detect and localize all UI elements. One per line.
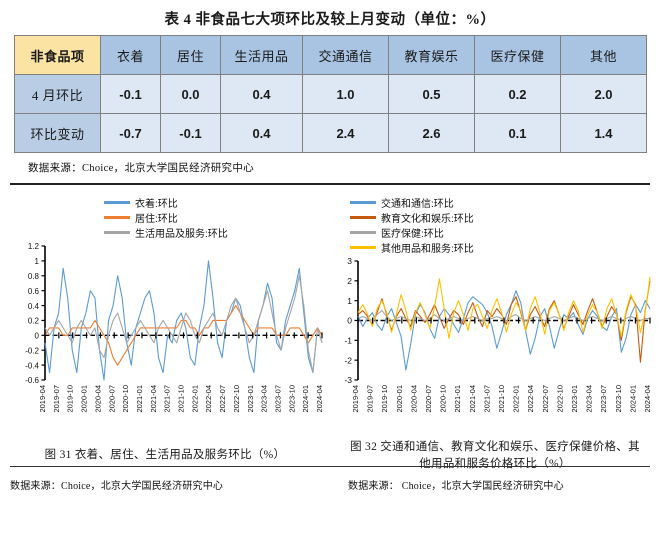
legend-label: 生活用品及服务:环比 — [135, 225, 228, 240]
svg-text:2022-07: 2022-07 — [218, 385, 227, 413]
legend-label: 教育文化和娱乐:环比 — [381, 210, 474, 225]
svg-text:2023-01: 2023-01 — [246, 385, 255, 413]
table-title: 表 4 非食品七大项环比及较上月变动（单位：%） — [0, 0, 660, 29]
svg-text:2023-10: 2023-10 — [614, 385, 623, 413]
col-header-3: 交通通信 — [303, 36, 389, 75]
svg-text:-0.6: -0.6 — [25, 376, 39, 385]
cell-0-3: 1.0 — [303, 75, 389, 114]
svg-text:2019-04: 2019-04 — [351, 385, 360, 413]
legend-item: 教育文化和娱乐:环比 — [350, 210, 660, 225]
legend-swatch-icon — [104, 216, 130, 219]
svg-text:2020-10: 2020-10 — [439, 385, 448, 413]
svg-text:2024-04: 2024-04 — [643, 385, 652, 413]
svg-text:2021-01: 2021-01 — [135, 385, 144, 413]
col-header-0: 衣着 — [101, 36, 161, 75]
table-row: 环比变动 -0.7 -0.1 0.4 2.4 2.6 0.1 1.4 — [15, 114, 647, 153]
table-container: 非食品项 衣着 居住 生活用品 交通通信 教育娱乐 医疗保健 其他 4 月环比 … — [0, 35, 660, 153]
svg-text:0.8: 0.8 — [28, 272, 40, 281]
svg-text:-2: -2 — [344, 355, 352, 365]
svg-text:2023-10: 2023-10 — [287, 385, 296, 413]
legend-item: 衣着:环比 — [104, 195, 330, 210]
cell-0-0: -0.1 — [101, 75, 161, 114]
table-corner-label: 非食品项 — [15, 36, 101, 75]
svg-text:2022-07: 2022-07 — [541, 385, 550, 413]
legend-swatch-icon — [104, 231, 130, 234]
legend-swatch-icon — [350, 231, 376, 234]
svg-text:2020-01: 2020-01 — [80, 385, 89, 413]
svg-text:2022-01: 2022-01 — [190, 385, 199, 413]
legend-swatch-icon — [104, 201, 130, 204]
svg-text:0.6: 0.6 — [28, 287, 40, 296]
chart-31-source: 数据来源：Choice，北京大学国民经济研究中心 — [0, 477, 330, 492]
svg-text:2019-10: 2019-10 — [380, 385, 389, 413]
svg-text:-3: -3 — [344, 375, 352, 385]
svg-text:2024-01: 2024-01 — [301, 385, 310, 413]
svg-text:-0.2: -0.2 — [25, 346, 39, 355]
legend-label: 医疗保健:环比 — [381, 225, 444, 240]
table-header-row: 非食品项 衣着 居住 生活用品 交通通信 教育娱乐 医疗保健 其他 — [15, 36, 647, 75]
chart-32-caption: 图 32 交通和通信、教育文化和娱乐、医疗保健价格、其他用品和服务价格环比（%） — [330, 439, 660, 474]
svg-text:1: 1 — [35, 257, 40, 266]
svg-text:0: 0 — [35, 332, 40, 341]
svg-text:2022-04: 2022-04 — [526, 385, 535, 413]
svg-text:2021-10: 2021-10 — [177, 385, 186, 413]
svg-text:-1: -1 — [344, 336, 352, 346]
svg-text:2023-01: 2023-01 — [570, 385, 579, 413]
cell-0-6: 2.0 — [561, 75, 647, 114]
col-header-6: 其他 — [561, 36, 647, 75]
cell-0-4: 0.5 — [389, 75, 475, 114]
cell-1-6: 1.4 — [561, 114, 647, 153]
svg-text:2019-07: 2019-07 — [52, 385, 61, 413]
chart-31-caption: 图 31 衣着、居住、生活用品及服务环比（%） — [29, 447, 302, 464]
svg-text:-0.4: -0.4 — [25, 361, 39, 370]
cell-0-1: 0.0 — [161, 75, 221, 114]
legend-item: 居住:环比 — [104, 210, 330, 225]
chart-32-source: 数据来源： Choice，北京大学国民经济研究中心 — [330, 477, 660, 492]
svg-text:2019-10: 2019-10 — [66, 385, 75, 413]
svg-text:2020-07: 2020-07 — [424, 385, 433, 413]
svg-text:2023-04: 2023-04 — [585, 385, 594, 413]
cell-1-5: 0.1 — [475, 114, 561, 153]
col-header-4: 教育娱乐 — [389, 36, 475, 75]
svg-text:0.4: 0.4 — [28, 302, 40, 311]
row-label-0: 4 月环比 — [15, 75, 101, 114]
chart-32: 交通和通信:环比 教育文化和娱乐:环比 医疗保健:环比 其他用品和服务:环比 3… — [330, 189, 660, 492]
svg-text:2: 2 — [347, 276, 352, 286]
svg-text:2020-10: 2020-10 — [121, 385, 130, 413]
legend-swatch-icon — [350, 246, 376, 249]
legend-label: 其他用品和服务:环比 — [381, 240, 474, 255]
cell-1-3: 2.4 — [303, 114, 389, 153]
legend-label: 交通和通信:环比 — [381, 195, 454, 210]
table-source: 数据来源：Choice，北京大学国民经济研究中心 — [0, 153, 660, 175]
svg-text:2022-10: 2022-10 — [232, 385, 241, 413]
svg-text:2020-04: 2020-04 — [93, 385, 102, 413]
svg-text:2019-04: 2019-04 — [38, 385, 47, 413]
legend-item: 其他用品和服务:环比 — [350, 240, 660, 255]
table-row: 4 月环比 -0.1 0.0 0.4 1.0 0.5 0.2 2.0 — [15, 75, 647, 114]
svg-text:1: 1 — [347, 296, 352, 306]
svg-text:2021-10: 2021-10 — [497, 385, 506, 413]
svg-text:2024-04: 2024-04 — [315, 385, 324, 413]
legend-label: 衣着:环比 — [135, 195, 178, 210]
divider-bottom — [10, 466, 650, 467]
svg-text:2021-07: 2021-07 — [163, 385, 172, 413]
svg-text:2021-04: 2021-04 — [149, 385, 158, 413]
report-page: 表 4 非食品七大项环比及较上月变动（单位：%） 非食品项 衣着 居住 生活用品… — [0, 0, 660, 547]
legend-item: 医疗保健:环比 — [350, 225, 660, 240]
charts-area: 衣着:环比 居住:环比 生活用品及服务:环比 1.210.80.60.40.20… — [0, 189, 660, 492]
svg-text:2021-04: 2021-04 — [468, 385, 477, 413]
chart-31-plot: 1.210.80.60.40.20-0.2-0.4-0.62019-042019… — [0, 240, 330, 435]
chart-32-legend: 交通和通信:环比 教育文化和娱乐:环比 医疗保健:环比 其他用品和服务:环比 — [330, 189, 660, 255]
svg-text:2019-07: 2019-07 — [366, 385, 375, 413]
cell-0-5: 0.2 — [475, 75, 561, 114]
nonfood-cpi-table: 非食品项 衣着 居住 生活用品 交通通信 教育娱乐 医疗保健 其他 4 月环比 … — [14, 35, 647, 153]
col-header-2: 生活用品 — [221, 36, 303, 75]
svg-text:2021-01: 2021-01 — [453, 385, 462, 413]
svg-text:2020-07: 2020-07 — [107, 385, 116, 413]
svg-text:2022-04: 2022-04 — [204, 385, 213, 413]
svg-text:0: 0 — [347, 316, 352, 326]
legend-swatch-icon — [350, 216, 376, 219]
cell-0-2: 0.4 — [221, 75, 303, 114]
cell-1-1: -0.1 — [161, 114, 221, 153]
cell-1-0: -0.7 — [101, 114, 161, 153]
svg-text:2024-01: 2024-01 — [628, 385, 637, 413]
legend-item: 交通和通信:环比 — [350, 195, 660, 210]
divider-top — [10, 183, 650, 185]
svg-text:0.2: 0.2 — [28, 317, 40, 326]
chart-32-svg: 3210-1-2-32019-042019-072019-102020-0120… — [330, 255, 660, 435]
legend-item: 生活用品及服务:环比 — [104, 225, 330, 240]
svg-text:1.2: 1.2 — [28, 242, 40, 251]
svg-text:2021-07: 2021-07 — [482, 385, 491, 413]
svg-text:2022-01: 2022-01 — [512, 385, 521, 413]
chart-31: 衣着:环比 居住:环比 生活用品及服务:环比 1.210.80.60.40.20… — [0, 189, 330, 492]
col-header-1: 居住 — [161, 36, 221, 75]
chart-31-svg: 1.210.80.60.40.20-0.2-0.4-0.62019-042019… — [0, 240, 330, 435]
legend-label: 居住:环比 — [135, 210, 178, 225]
svg-text:3: 3 — [347, 256, 352, 266]
svg-text:2020-04: 2020-04 — [409, 385, 418, 413]
svg-text:2023-04: 2023-04 — [260, 385, 269, 413]
chart-32-plot: 3210-1-2-32019-042019-072019-102020-0120… — [330, 255, 660, 435]
col-header-5: 医疗保健 — [475, 36, 561, 75]
legend-swatch-icon — [350, 201, 376, 204]
svg-text:2023-07: 2023-07 — [273, 385, 282, 413]
row-label-1: 环比变动 — [15, 114, 101, 153]
chart-31-legend: 衣着:环比 居住:环比 生活用品及服务:环比 — [0, 189, 330, 240]
svg-text:2020-01: 2020-01 — [395, 385, 404, 413]
svg-text:2023-07: 2023-07 — [599, 385, 608, 413]
svg-text:2022-10: 2022-10 — [555, 385, 564, 413]
cell-1-2: 0.4 — [221, 114, 303, 153]
cell-1-4: 2.6 — [389, 114, 475, 153]
